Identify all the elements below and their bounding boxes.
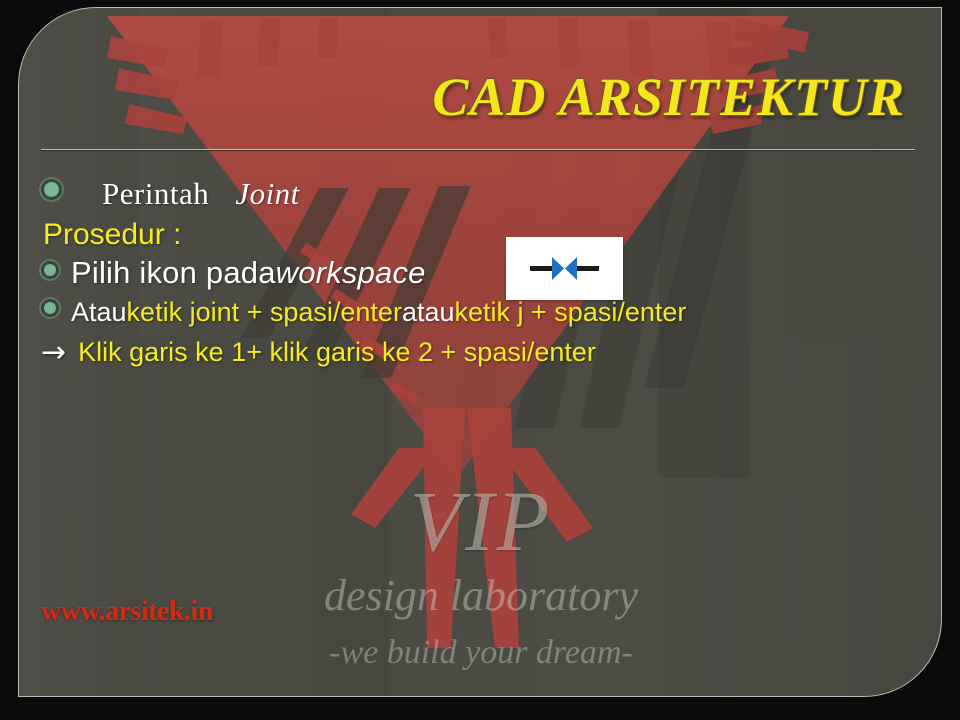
watermark-brand: VIP (19, 478, 942, 564)
atau-part4: ketik j + spasi/enter (455, 297, 687, 328)
pilih-text-plain: Pilih ikon pada (71, 255, 276, 291)
arrow-right-icon: → (41, 335, 66, 370)
presentation-slide: VIP design laboratory -we build your dre… (18, 7, 942, 697)
heading-text-plain: Perintah (76, 176, 209, 212)
bullet-step-pilih: Pilih ikon pada workspace (41, 255, 931, 291)
bullet-step-atau: Atau ketik joint + spasi/enter atau keti… (41, 297, 931, 328)
join-icon (506, 237, 623, 300)
klik-text: Klik garis ke 1+ klik garis ke 2 + spasi… (78, 337, 596, 368)
pilih-text-italic: workspace (276, 255, 426, 291)
bullet-step-klik: → Klik garis ke 1+ klik garis ke 2 + spa… (41, 334, 931, 369)
atau-part2: ketik joint + spasi/enter (127, 297, 402, 328)
ring-bullet-icon (41, 179, 62, 200)
slide-stage: VIP design laboratory -we build your dre… (0, 0, 960, 720)
atau-part1: Atau (71, 297, 127, 328)
ring-bullet-icon (41, 261, 59, 279)
slide-body: Perintah Joint Prosedur : Pilih ikon pad… (41, 176, 931, 369)
watermark-tagline: -we build your dream- (19, 633, 942, 674)
watermark: VIP design laboratory -we build your dre… (19, 478, 942, 674)
title-row: CAD ARSITEKTUR (19, 70, 905, 124)
heading-text-italic: Joint (209, 176, 300, 212)
prosedur-label-text: Prosedur : (43, 218, 181, 252)
slide-title: CAD ARSITEKTUR (432, 70, 905, 124)
label-prosedur: Prosedur : (41, 218, 931, 252)
atau-part3: atau (402, 297, 455, 328)
ring-bullet-icon (41, 299, 59, 317)
join-command-icon-chip[interactable] (506, 237, 623, 300)
footer-url[interactable]: www.arsitek.in (41, 596, 213, 628)
title-divider (41, 149, 915, 151)
bullet-heading-perintah: Perintah Joint (41, 176, 931, 212)
